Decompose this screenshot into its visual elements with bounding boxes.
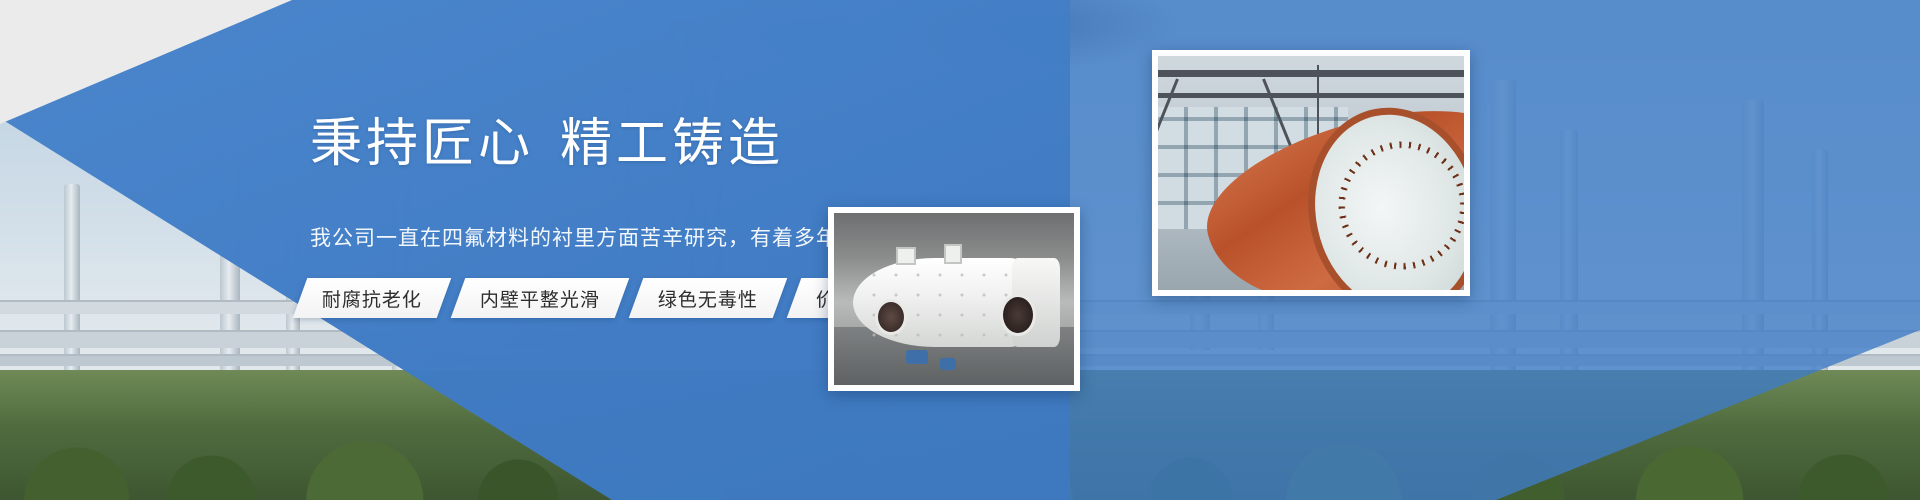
roof-truss bbox=[1158, 70, 1464, 77]
feature-tag-1-label: 耐腐抗老化 bbox=[322, 285, 422, 312]
tank-valve bbox=[940, 358, 956, 370]
tank-port-right bbox=[1000, 294, 1036, 336]
hero-banner: 秉持匠心精工铸造 我公司一直在四氟材料的衬里方面苦辛研究，有着多年实践经验 耐腐… bbox=[0, 0, 1920, 500]
lined-tank-photo[interactable] bbox=[828, 207, 1080, 391]
headline-part-1: 秉持匠心 bbox=[310, 115, 534, 173]
roof-truss bbox=[1158, 93, 1464, 98]
feature-tag-list: 耐腐抗老化 内壁平整光滑 绿色无毒性 价格低廉 bbox=[300, 278, 918, 318]
reactor-vessel-photo-frame bbox=[1158, 56, 1464, 290]
feature-tag-3[interactable]: 绿色无毒性 bbox=[629, 278, 788, 318]
tank-port-left bbox=[875, 299, 907, 335]
headline-part-2: 精工铸造 bbox=[560, 115, 784, 173]
page-title: 秉持匠心精工铸造 bbox=[310, 118, 784, 170]
tank-nozzle bbox=[896, 247, 916, 265]
feature-tag-2-label: 内壁平整光滑 bbox=[480, 285, 600, 312]
feature-tag-1[interactable]: 耐腐抗老化 bbox=[293, 278, 452, 318]
reactor-vessel-photo[interactable] bbox=[1152, 50, 1470, 296]
tank-valve bbox=[906, 350, 928, 364]
lined-tank-photo-frame bbox=[834, 213, 1074, 385]
feature-tag-3-label: 绿色无毒性 bbox=[658, 285, 758, 312]
tank-nozzle bbox=[944, 244, 962, 264]
feature-tag-2[interactable]: 内壁平整光滑 bbox=[451, 278, 630, 318]
